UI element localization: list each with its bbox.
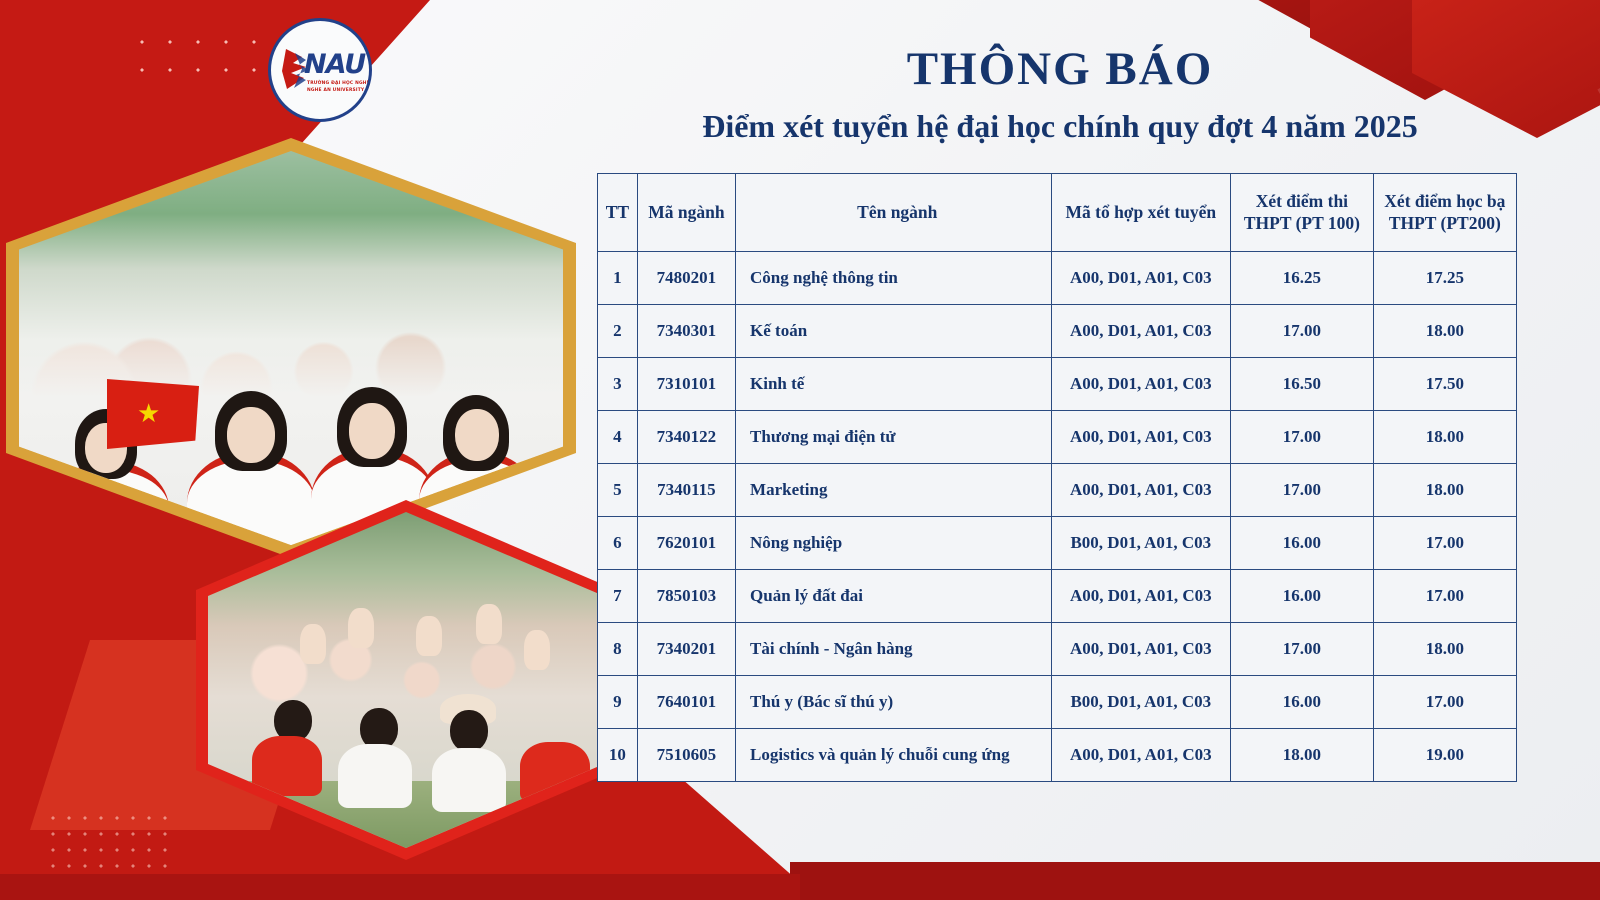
row-index: 3 <box>598 358 638 411</box>
row-index: 2 <box>598 305 638 358</box>
row-transcript-score: 19.00 <box>1373 729 1516 782</box>
photo-1-person-d-face <box>455 409 499 461</box>
row-transcript-score: 17.25 <box>1373 252 1516 305</box>
row-major-name: Nông nghiệp <box>736 517 1051 570</box>
page-title: THÔNG BÁO <box>585 42 1535 96</box>
row-transcript-score: 17.00 <box>1373 676 1516 729</box>
admission-score-table: TT Mã ngành Tên ngành Mã tổ hợp xét tuyể… <box>597 173 1517 782</box>
photo-2-hand-2 <box>348 608 374 648</box>
row-combination: A00, D01, A01, C03 <box>1051 570 1231 623</box>
table-row: 57340115MarketingA00, D01, A01, C0317.00… <box>598 464 1517 517</box>
photo-1-image: ★ <box>19 151 563 545</box>
row-exam-score: 17.00 <box>1231 411 1374 464</box>
photo-2-hand-5 <box>524 630 550 670</box>
row-major-name: Kinh tế <box>736 358 1051 411</box>
university-logo: NAU TRƯỜNG ĐẠI HỌC NGHỆ AN NGHE AN UNIVE… <box>268 18 372 122</box>
dot-pattern-top <box>128 28 268 72</box>
row-index: 7 <box>598 570 638 623</box>
row-major-name: Thương mại điện tử <box>736 411 1051 464</box>
row-major-name: Tài chính - Ngân hàng <box>736 623 1051 676</box>
table-row: 67620101Nông nghiệpB00, D01, A01, C0316.… <box>598 517 1517 570</box>
logo-subtitle-vi: TRƯỜNG ĐẠI HỌC NGHỆ AN <box>307 81 372 86</box>
row-major-name: Logistics và quản lý chuỗi cung ứng <box>736 729 1051 782</box>
photo-1-person-b-face <box>227 407 275 463</box>
table-row: 107510605Logistics và quản lý chuỗi cung… <box>598 729 1517 782</box>
table-row: 17480201Công nghệ thông tinA00, D01, A01… <box>598 252 1517 305</box>
row-major-code: 7850103 <box>637 570 735 623</box>
row-combination: A00, D01, A01, C03 <box>1051 358 1231 411</box>
row-transcript-score: 18.00 <box>1373 411 1516 464</box>
row-transcript-score: 17.00 <box>1373 517 1516 570</box>
row-major-name: Kế toán <box>736 305 1051 358</box>
row-major-code: 7510605 <box>637 729 735 782</box>
row-combination: B00, D01, A01, C03 <box>1051 517 1231 570</box>
table-row: 47340122Thương mại điện tửA00, D01, A01,… <box>598 411 1517 464</box>
row-combination: B00, D01, A01, C03 <box>1051 676 1231 729</box>
row-major-code: 7340201 <box>637 623 735 676</box>
row-major-name: Công nghệ thông tin <box>736 252 1051 305</box>
row-major-name: Quản lý đất đai <box>736 570 1051 623</box>
flag-star-icon: ★ <box>137 401 160 427</box>
row-major-name: Thú y (Bác sĩ thú y) <box>736 676 1051 729</box>
row-major-code: 7620101 <box>637 517 735 570</box>
row-index: 1 <box>598 252 638 305</box>
col-header-exam-score: Xét điểm thi THPT (PT 100) <box>1231 174 1374 252</box>
row-transcript-score: 17.50 <box>1373 358 1516 411</box>
row-major-code: 7640101 <box>637 676 735 729</box>
col-header-exam-line2: THPT (PT 100) <box>1237 213 1367 235</box>
row-major-code: 7340122 <box>637 411 735 464</box>
page-subtitle: Điểm xét tuyển hệ đại học chính quy đợt … <box>580 108 1540 145</box>
row-combination: A00, D01, A01, C03 <box>1051 252 1231 305</box>
table-head: TT Mã ngành Tên ngành Mã tổ hợp xét tuyể… <box>598 174 1517 252</box>
table-row: 27340301Kế toánA00, D01, A01, C0317.0018… <box>598 305 1517 358</box>
photo-1-person-c-face <box>349 403 395 459</box>
row-exam-score: 17.00 <box>1231 623 1374 676</box>
row-exam-score: 18.00 <box>1231 729 1374 782</box>
col-header-transcript-line2: THPT (PT200) <box>1380 213 1510 235</box>
table-body: 17480201Công nghệ thông tinA00, D01, A01… <box>598 252 1517 782</box>
row-combination: A00, D01, A01, C03 <box>1051 729 1231 782</box>
row-index: 10 <box>598 729 638 782</box>
photo-2-head-3 <box>450 710 488 752</box>
row-transcript-score: 18.00 <box>1373 305 1516 358</box>
row-index: 6 <box>598 517 638 570</box>
row-combination: A00, D01, A01, C03 <box>1051 464 1231 517</box>
col-header-combination: Mã tổ hợp xét tuyển <box>1051 174 1231 252</box>
row-combination: A00, D01, A01, C03 <box>1051 623 1231 676</box>
col-header-exam-line1: Xét điểm thi <box>1237 191 1367 213</box>
logo-subtitle-en: NGHE AN UNIVERSITY <box>307 88 364 93</box>
row-transcript-score: 18.00 <box>1373 623 1516 676</box>
logo-wordmark: NAU <box>304 49 365 80</box>
row-index: 8 <box>598 623 638 676</box>
table-row: 37310101Kinh tếA00, D01, A01, C0316.5017… <box>598 358 1517 411</box>
photo-2-shirt-1 <box>252 736 322 796</box>
col-header-transcript-line1: Xét điểm học bạ <box>1380 191 1510 213</box>
table-row: 97640101Thú y (Bác sĩ thú y)B00, D01, A0… <box>598 676 1517 729</box>
row-major-code: 7340115 <box>637 464 735 517</box>
row-index: 4 <box>598 411 638 464</box>
row-exam-score: 16.00 <box>1231 676 1374 729</box>
row-exam-score: 16.50 <box>1231 358 1374 411</box>
row-combination: A00, D01, A01, C03 <box>1051 411 1231 464</box>
row-combination: A00, D01, A01, C03 <box>1051 305 1231 358</box>
row-exam-score: 16.00 <box>1231 517 1374 570</box>
photo-2-hand-1 <box>300 624 326 664</box>
bottom-red-bar-left <box>0 874 800 900</box>
logo-mark: NAU TRƯỜNG ĐẠI HỌC NGHỆ AN NGHE AN UNIVE… <box>274 43 366 97</box>
row-exam-score: 17.00 <box>1231 464 1374 517</box>
row-exam-score: 17.00 <box>1231 305 1374 358</box>
col-header-transcript-score: Xét điểm học bạ THPT (PT200) <box>1373 174 1516 252</box>
table-row: 77850103Quản lý đất đaiA00, D01, A01, C0… <box>598 570 1517 623</box>
col-header-tt: TT <box>598 174 638 252</box>
row-major-code: 7310101 <box>637 358 735 411</box>
row-major-code: 7340301 <box>637 305 735 358</box>
bottom-red-bar-right <box>790 862 1600 900</box>
col-header-name: Tên ngành <box>736 174 1051 252</box>
photo-2-shirt-3 <box>432 748 506 812</box>
row-transcript-score: 17.00 <box>1373 570 1516 623</box>
photo-2-hand-3 <box>416 616 442 656</box>
row-major-code: 7480201 <box>637 252 735 305</box>
table-row: 87340201Tài chính - Ngân hàngA00, D01, A… <box>598 623 1517 676</box>
poster-root: NAU TRƯỜNG ĐẠI HỌC NGHỆ AN NGHE AN UNIVE… <box>0 0 1600 900</box>
row-major-name: Marketing <box>736 464 1051 517</box>
row-index: 9 <box>598 676 638 729</box>
admission-score-table-wrap: TT Mã ngành Tên ngành Mã tổ hợp xét tuyể… <box>597 173 1517 782</box>
row-index: 5 <box>598 464 638 517</box>
col-header-code: Mã ngành <box>637 174 735 252</box>
row-exam-score: 16.25 <box>1231 252 1374 305</box>
photo-2-shirt-2 <box>338 744 412 808</box>
table-header-row: TT Mã ngành Tên ngành Mã tổ hợp xét tuyể… <box>598 174 1517 252</box>
row-exam-score: 16.00 <box>1231 570 1374 623</box>
photo-2-hand-4 <box>476 604 502 644</box>
row-transcript-score: 18.00 <box>1373 464 1516 517</box>
photo-2-image <box>208 512 604 848</box>
